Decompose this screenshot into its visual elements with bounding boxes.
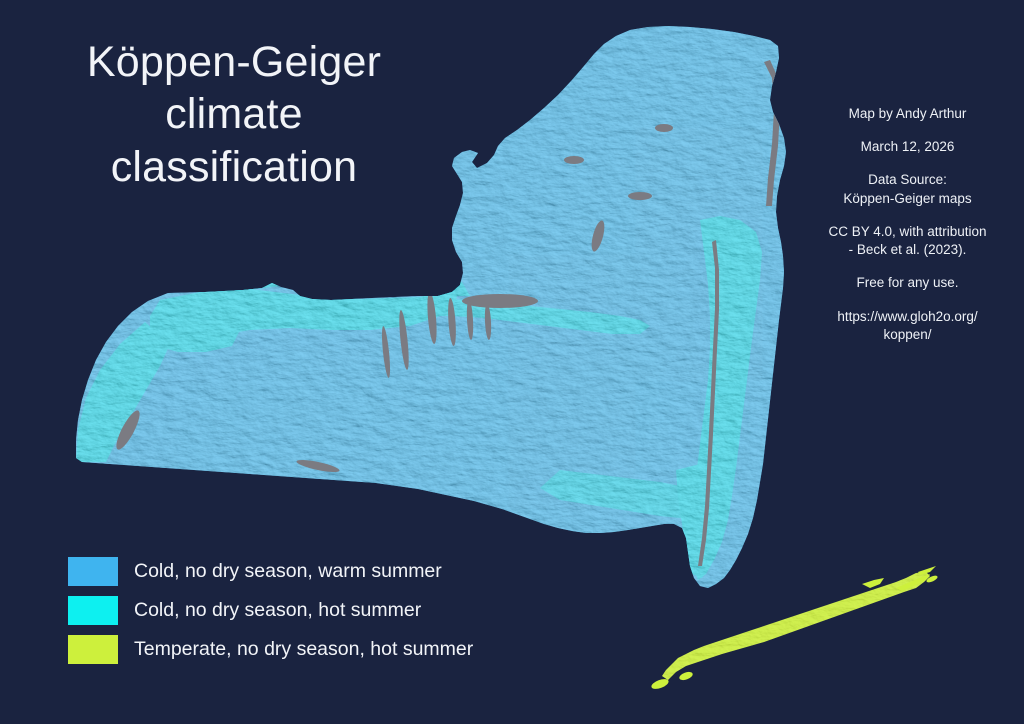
legend-swatch-cfa: [68, 635, 118, 664]
legend-item: Cold, no dry season, warm summer: [68, 556, 473, 586]
map-poster: Köppen-Geiger climate classification Map…: [0, 0, 1024, 724]
legend-swatch-dfa: [68, 596, 118, 625]
legend: Cold, no dry season, warm summer Cold, n…: [68, 556, 473, 664]
attribution-author: Map by Andy Arthur: [800, 105, 1015, 123]
legend-item: Temperate, no dry season, hot summer: [68, 634, 473, 664]
legend-swatch-dfb: [68, 557, 118, 586]
page-title: Köppen-Geiger climate classification: [34, 36, 434, 193]
legend-item: Cold, no dry season, hot summer: [68, 595, 473, 625]
legend-label-cfa: Temperate, no dry season, hot summer: [134, 638, 473, 661]
attribution-license: CC BY 4.0, with attribution - Beck et al…: [800, 223, 1015, 259]
attribution-usage: Free for any use.: [800, 274, 1015, 292]
attribution-date: March 12, 2026: [800, 138, 1015, 156]
legend-label-dfb: Cold, no dry season, warm summer: [134, 560, 442, 583]
attribution-data-source: Data Source: Köppen-Geiger maps: [800, 171, 1015, 207]
legend-label-dfa: Cold, no dry season, hot summer: [134, 599, 421, 622]
attribution-block: Map by Andy Arthur March 12, 2026 Data S…: [800, 105, 1015, 344]
long-island-forks: [862, 566, 936, 591]
attribution-url[interactable]: https://www.gloh2o.org/ koppen/: [800, 308, 1015, 344]
